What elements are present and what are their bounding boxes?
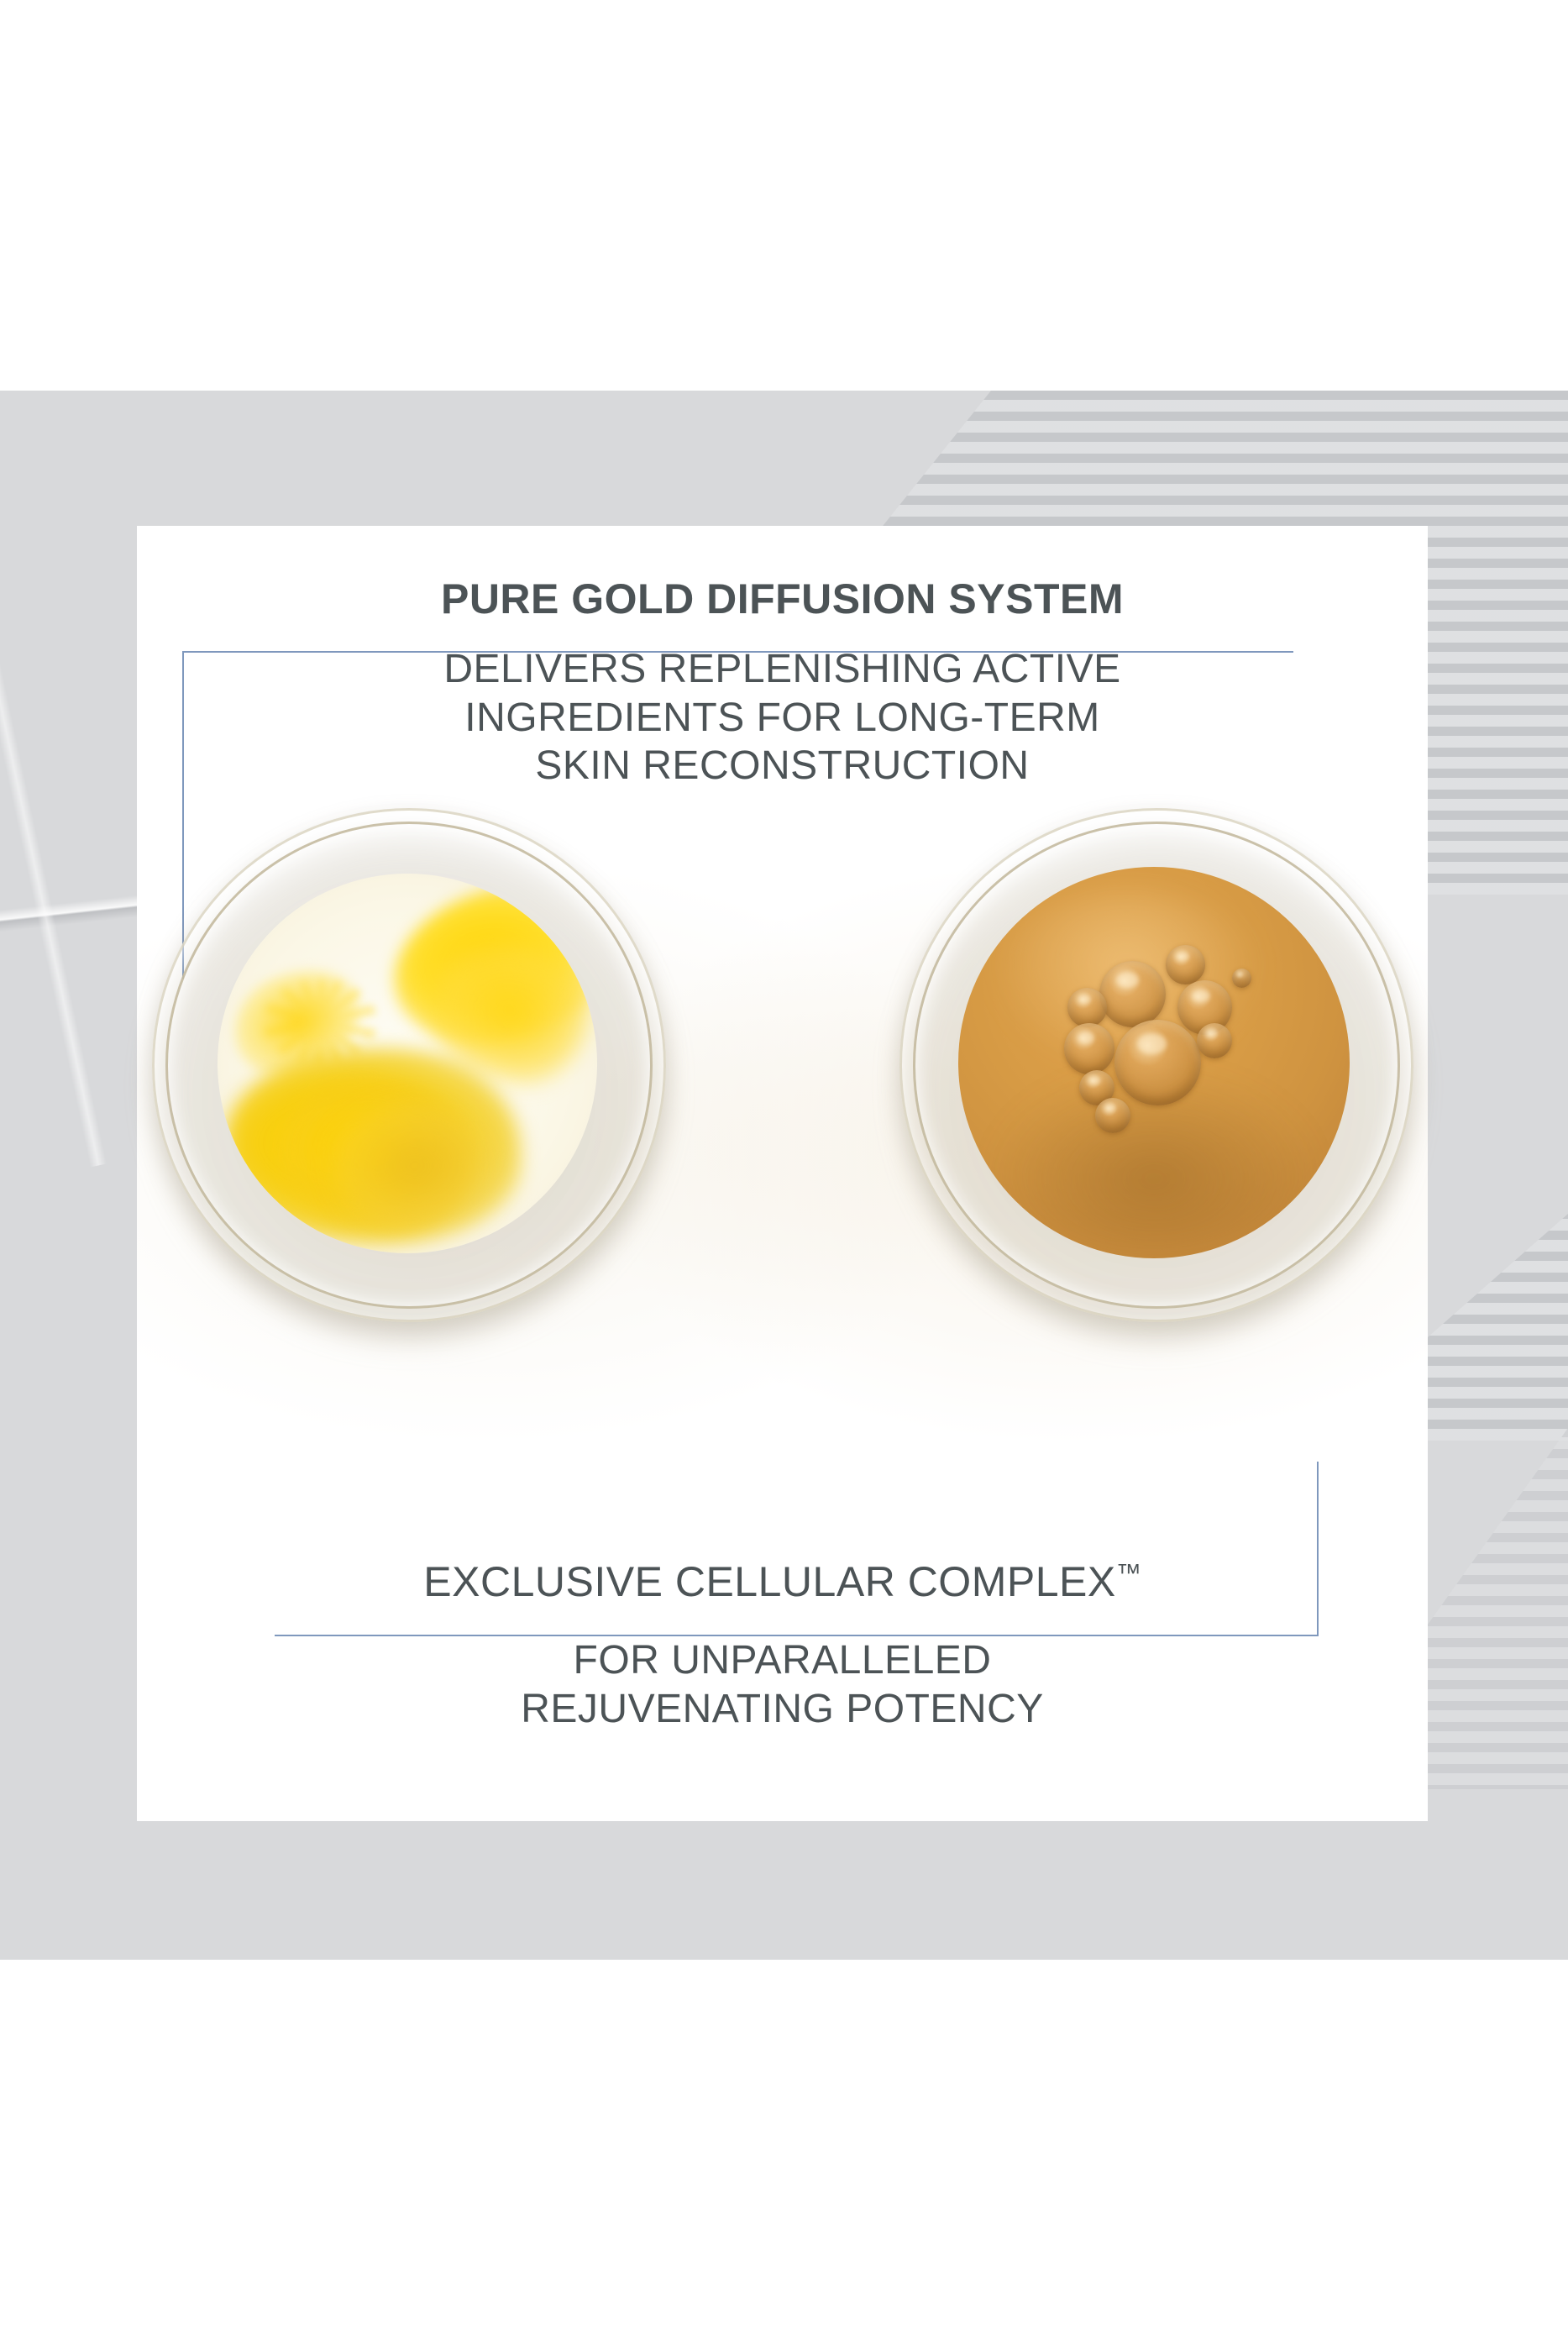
bottom-title-text: EXCLUSIVE CELLULAR COMPLEX bbox=[423, 1558, 1115, 1605]
poster-canvas: PURE GOLD DIFFUSION SYSTEM DELIVERS REPL… bbox=[0, 0, 1568, 2352]
top-subtitle: DELIVERS REPLENISHING ACTIVE INGREDIENTS… bbox=[137, 645, 1428, 790]
top-subtitle-line-3: SKIN RECONSTRUCTION bbox=[137, 742, 1428, 790]
oil-bubble-small-top bbox=[1166, 945, 1205, 984]
oil-bubble-small-right bbox=[1197, 1023, 1232, 1058]
right-dish-liquid bbox=[958, 867, 1350, 1258]
left-dish-liquid bbox=[218, 874, 597, 1253]
bottom-subtitle-line-1: FOR UNPARALLELED bbox=[137, 1636, 1428, 1685]
top-title: PURE GOLD DIFFUSION SYSTEM bbox=[137, 576, 1428, 622]
oil-bubble-largest bbox=[1114, 1020, 1201, 1106]
oil-bubble-small-bottom bbox=[1095, 1098, 1130, 1133]
oil-bubble-medium-left bbox=[1064, 1023, 1115, 1074]
oil-bubble-small-left bbox=[1067, 988, 1107, 1027]
bottom-title: EXCLUSIVE CELLULAR COMPLEX™ bbox=[137, 1559, 1428, 1605]
top-subtitle-line-1: DELIVERS REPLENISHING ACTIVE bbox=[137, 645, 1428, 694]
bottom-subtitle: FOR UNPARALLELED REJUVENATING POTENCY bbox=[137, 1636, 1428, 1733]
oil-bubble-large-upper bbox=[1099, 961, 1166, 1027]
frame-line-right bbox=[1317, 1462, 1319, 1636]
top-subtitle-line-2: INGREDIENTS FOR LONG-TERM bbox=[137, 694, 1428, 743]
bottom-subtitle-line-2: REJUVENATING POTENCY bbox=[137, 1685, 1428, 1734]
trademark-mark: ™ bbox=[1116, 1559, 1141, 1587]
ink-plume-bottom-haze bbox=[332, 1101, 499, 1231]
content-card: PURE GOLD DIFFUSION SYSTEM DELIVERS REPL… bbox=[137, 526, 1428, 1821]
